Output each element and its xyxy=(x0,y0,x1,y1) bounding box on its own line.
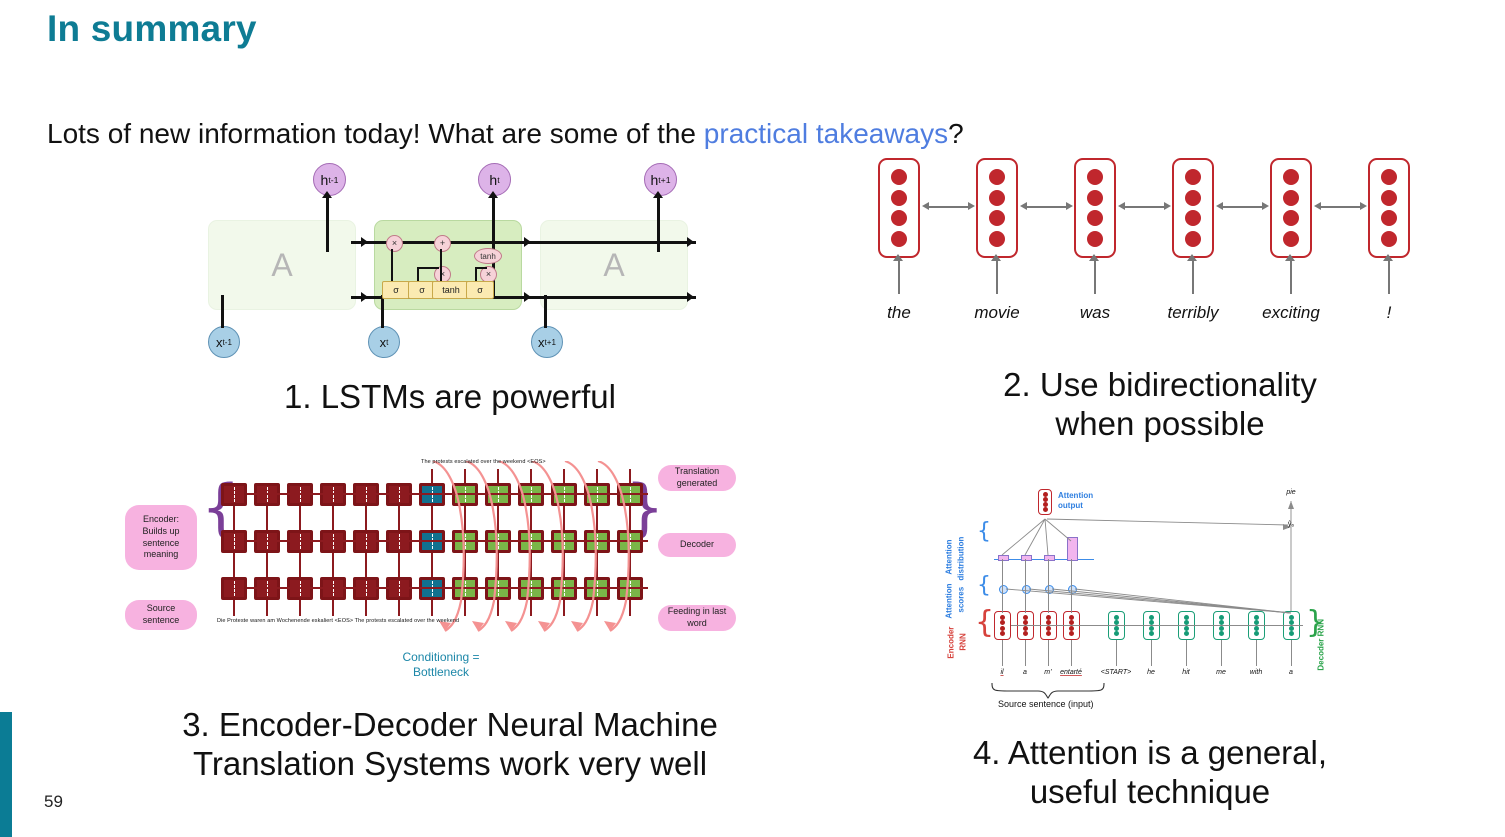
attention-bar-2 xyxy=(1044,555,1055,561)
attention-dec-dot xyxy=(1114,626,1119,631)
attention-dec-dot xyxy=(1289,615,1294,620)
lstm-track-arrow-2 xyxy=(361,292,368,302)
attention-output-line2: output xyxy=(1058,501,1093,511)
lstm-input-prev: xt-1 xyxy=(208,326,240,358)
nmt-vconn xyxy=(299,506,301,530)
bi-input-arrow-0 xyxy=(893,254,903,261)
attention-encoder-cell-0 xyxy=(994,611,1011,640)
subtitle-line: Lots of new information today! What are … xyxy=(47,118,964,150)
bi-node xyxy=(891,190,907,206)
lstm-x-wire-current xyxy=(381,295,384,328)
encoder-rnn-label: Encoder xyxy=(946,627,956,659)
attention-decoder-word-2: hit xyxy=(1166,669,1206,676)
attention-dec-dot xyxy=(1219,631,1224,636)
nmt-translation-line2: generated xyxy=(677,478,718,490)
nmt-vconn xyxy=(596,553,598,577)
attention-input-wire-1 xyxy=(1025,640,1026,666)
lstm-x-sub-2: t+1 xyxy=(545,338,556,347)
lstm-x-wire-prev xyxy=(221,295,224,328)
nmt-output-stub xyxy=(596,469,598,483)
attention-input-wire-9 xyxy=(1291,640,1292,666)
bi-input-arrow-3 xyxy=(1187,254,1197,261)
attention-dec-dot xyxy=(1149,631,1154,636)
bi-column-5: ! xyxy=(1368,158,1410,258)
attention-enc-dot xyxy=(1046,615,1051,620)
lstm-h-sub-2: t+1 xyxy=(658,175,670,185)
caption-three-line2: Translation Systems work very well xyxy=(130,745,770,784)
encoder-rnn-brace: { xyxy=(975,605,994,640)
caption-four-line1: 4. Attention is a general, xyxy=(890,734,1410,773)
bi-node xyxy=(891,231,907,247)
attention-input-wire-4 xyxy=(1116,640,1117,666)
lstm-wire-output xyxy=(475,267,477,281)
bi-link-head-r-4 xyxy=(1360,202,1367,210)
bi-node xyxy=(891,210,907,226)
bi-node xyxy=(1283,190,1299,206)
lstm-op-symbol-3: × xyxy=(486,270,491,279)
nmt-output-stub xyxy=(431,469,433,483)
lstm-h-arrow-current xyxy=(488,191,498,198)
bi-node xyxy=(1283,169,1299,185)
attention-dec-dot xyxy=(1289,631,1294,636)
attention-distribution-brace: { xyxy=(977,519,991,544)
bi-link-3 xyxy=(1220,206,1264,208)
attention-dec-dot xyxy=(1114,615,1119,620)
lstm-gate-candidate: tanh xyxy=(432,281,470,299)
lstm-h-sub-0: t-1 xyxy=(328,175,338,185)
attention-source-sentence-label: Source sentence (input) xyxy=(998,699,1094,709)
lstm-op-symbol-1: + xyxy=(440,239,445,248)
bi-node xyxy=(1283,210,1299,226)
nmt-input-stub xyxy=(596,600,598,616)
nmt-vconn xyxy=(266,553,268,577)
attention-decoder-word-4: with xyxy=(1236,669,1276,676)
nmt-output-stub xyxy=(497,469,499,483)
nmt-output-stub xyxy=(563,469,565,483)
attention-score-0 xyxy=(999,585,1008,594)
bi-link-head-r-0 xyxy=(968,202,975,210)
nmt-vconn xyxy=(530,553,532,577)
nmt-vconn xyxy=(233,553,235,577)
lstm-tanh-ellipse: tanh xyxy=(474,248,502,264)
bi-link-1 xyxy=(1024,206,1068,208)
attention-output-label: Attention output xyxy=(1058,491,1093,510)
nmt-encoder-line1: Encoder: xyxy=(143,514,179,526)
lstm-tanh-ellipse-label: tanh xyxy=(480,252,496,261)
attention-enc-dot xyxy=(1069,631,1074,636)
nmt-feeding-line2: word xyxy=(687,618,707,630)
lstm-x-wire-next xyxy=(544,295,547,328)
nmt-input-stub xyxy=(365,600,367,616)
slide-number: 59 xyxy=(44,792,63,812)
attention-dec-dot xyxy=(1254,615,1259,620)
nmt-source-line2: sentence xyxy=(143,615,180,627)
bi-input-wire-2 xyxy=(1094,258,1096,294)
subtitle-plain-text: Lots of new information today! What are … xyxy=(47,118,704,149)
bi-link-head-l-3 xyxy=(1216,202,1223,210)
nmt-input-stub xyxy=(332,600,334,616)
nmt-output-stub xyxy=(464,469,466,483)
nmt-bottleneck-line1: Conditioning = xyxy=(396,650,486,665)
attention-decoder-word-3: me xyxy=(1201,669,1241,676)
nmt-hconn xyxy=(247,540,648,542)
attention-enc-dot xyxy=(1046,631,1051,636)
attention-wire-score-1 xyxy=(1025,559,1026,613)
bi-column-2: was xyxy=(1074,158,1116,258)
nmt-encoder-line2: Builds up xyxy=(142,526,179,538)
caption-three: 3. Encoder-Decoder Neural Machine Transl… xyxy=(130,706,770,784)
nmt-input-stub xyxy=(497,600,499,616)
attention-yhat-label: ŷ₆ xyxy=(1266,521,1316,528)
lstm-cell-previous: A xyxy=(208,220,356,310)
nmt-label-encoder: Encoder: Builds up sentence meaning xyxy=(125,505,197,570)
nmt-vconn xyxy=(431,553,433,577)
attention-prediction-label: pie xyxy=(1266,489,1316,496)
attention-dec-dot xyxy=(1184,615,1189,620)
bi-link-4 xyxy=(1318,206,1362,208)
attention-enc-dot xyxy=(1046,626,1051,631)
bi-link-head-l-2 xyxy=(1118,202,1125,210)
attention-dec-dot xyxy=(1254,631,1259,636)
bi-input-arrow-5 xyxy=(1383,254,1393,261)
left-accent-bar xyxy=(0,712,12,837)
lstm-track-arrow-3 xyxy=(524,237,531,247)
attention-enc-dot xyxy=(1000,626,1005,631)
nmt-cell xyxy=(221,483,247,506)
nmt-hconn xyxy=(247,587,648,589)
attention-distribution-label2: distribution xyxy=(956,537,966,581)
bi-column-3: terribly xyxy=(1172,158,1214,258)
attention-input-wire-6 xyxy=(1186,640,1187,666)
bi-column-1: movie xyxy=(976,158,1018,258)
bi-input-wire-5 xyxy=(1388,258,1390,294)
attention-input-wire-2 xyxy=(1048,640,1049,666)
bi-input-arrow-1 xyxy=(991,254,1001,261)
attention-output-box xyxy=(1038,489,1052,515)
bi-stack-1 xyxy=(976,158,1018,258)
attention-input-wire-7 xyxy=(1221,640,1222,666)
encoder-rnn-label2: RNN xyxy=(958,633,968,650)
caption-two-line2: when possible xyxy=(900,405,1420,444)
attention-score-1 xyxy=(1022,585,1031,594)
nmt-label-translation-generated: Translation generated xyxy=(658,465,736,491)
nmt-output-word-row: The protests escalated over the weekend … xyxy=(421,459,546,465)
slide-root: In summary Lots of new information today… xyxy=(0,0,1505,837)
nmt-input-stub xyxy=(431,600,433,616)
nmt-vconn xyxy=(365,506,367,530)
lstm-track-arrow-1 xyxy=(361,237,368,247)
lstm-op-symbol-0: × xyxy=(392,239,397,248)
nmt-input-stub xyxy=(266,600,268,616)
bi-link-head-l-0 xyxy=(922,202,929,210)
lstm-wire-input-h xyxy=(417,267,439,269)
bi-node xyxy=(1087,210,1103,226)
nmt-cell xyxy=(221,530,247,553)
nmt-vconn xyxy=(398,506,400,530)
nmt-vconn xyxy=(431,506,433,530)
nmt-vconn xyxy=(629,506,631,530)
bi-node xyxy=(891,169,907,185)
attention-dec-dot xyxy=(1184,631,1189,636)
attention-distribution-line2: distribution xyxy=(956,537,966,581)
nmt-vconn xyxy=(563,506,565,530)
attention-distribution-line1: Attention xyxy=(944,539,954,574)
attention-enc-dot xyxy=(1069,626,1074,631)
attention-input-wire-5 xyxy=(1151,640,1152,666)
nmt-vconn xyxy=(497,506,499,530)
attention-scores-line2: scores xyxy=(956,587,966,613)
lstm-wire-output-h xyxy=(475,267,487,269)
bi-link-0 xyxy=(926,206,970,208)
attention-bar-3 xyxy=(1067,537,1078,561)
encoder-rnn-line2: RNN xyxy=(958,633,968,650)
nmt-vconn xyxy=(563,553,565,577)
bi-link-head-r-2 xyxy=(1164,202,1171,210)
lstm-cell-label-next: A xyxy=(603,247,624,284)
nmt-input-stub xyxy=(464,600,466,616)
nmt-vconn xyxy=(299,553,301,577)
bi-stack-5 xyxy=(1368,158,1410,258)
nmt-conditioning-bottleneck-label: Conditioning = Bottleneck xyxy=(396,650,486,680)
lstm-track-arrow-6 xyxy=(687,292,694,302)
lstm-h-sub-1: t xyxy=(497,175,499,185)
bi-link-head-r-1 xyxy=(1066,202,1073,210)
lstm-h-letter-1: h xyxy=(489,172,497,188)
lstm-op-add: + xyxy=(434,235,451,252)
attention-source-word-3: entarté xyxy=(1051,669,1091,676)
attention-decoder-word-1: he xyxy=(1131,669,1171,676)
bi-stack-0 xyxy=(878,158,920,258)
attention-dec-dot xyxy=(1149,615,1154,620)
lstm-h-arrow-prev xyxy=(322,191,332,198)
nmt-hconn xyxy=(247,493,648,495)
bi-node xyxy=(1087,231,1103,247)
bi-node xyxy=(1381,169,1397,185)
encoder-rnn-line1: Encoder xyxy=(946,627,956,659)
bi-link-head-r-3 xyxy=(1262,202,1269,210)
nmt-translation-line1: Translation xyxy=(675,466,719,478)
nmt-vconn xyxy=(266,506,268,530)
bi-link-head-l-1 xyxy=(1020,202,1027,210)
nmt-output-stub xyxy=(629,469,631,483)
nmt-vconn xyxy=(332,506,334,530)
attention-enc-dot xyxy=(1023,631,1028,636)
bi-input-wire-4 xyxy=(1290,258,1292,294)
lstm-track-arrow-5 xyxy=(687,237,694,247)
attention-wire-score-3 xyxy=(1071,559,1072,613)
bi-node xyxy=(1381,190,1397,206)
nmt-diagram: Encoder: Builds up sentence meaning Sour… xyxy=(125,455,765,640)
lstm-h-letter-0: h xyxy=(321,172,329,188)
attention-distribution-label: Attention xyxy=(944,539,954,574)
lstm-wire-forget xyxy=(391,249,393,281)
bi-node xyxy=(1185,231,1201,247)
subtitle-tail-text: ? xyxy=(948,118,964,149)
attention-scores-label2: scores xyxy=(956,587,966,613)
attention-input-wire-0 xyxy=(1002,640,1003,666)
nmt-input-stub xyxy=(563,600,565,616)
nmt-vconn xyxy=(365,553,367,577)
attention-enc-dot xyxy=(1000,620,1005,625)
lstm-h-letter-2: h xyxy=(650,172,658,188)
lstm-diagram: A A ht-1 ht ht+1 xt-1 xt xt+1 xyxy=(196,163,696,359)
nmt-vconn xyxy=(398,553,400,577)
attention-input-wire-8 xyxy=(1256,640,1257,666)
attention-diagram: Attention output Attention distribution … xyxy=(950,483,1350,718)
nmt-label-source-sentence: Source sentence xyxy=(125,600,197,630)
attention-dec-dot xyxy=(1289,626,1294,631)
attention-score-2 xyxy=(1045,585,1054,594)
bi-stack-4 xyxy=(1270,158,1312,258)
nmt-label-feeding-last-word: Feeding in last word xyxy=(658,605,736,631)
bi-node xyxy=(1381,210,1397,226)
bi-input-wire-3 xyxy=(1192,258,1194,294)
attention-dec-dot xyxy=(1254,626,1259,631)
nmt-feeding-line1: Feeding in last xyxy=(668,606,727,618)
bi-column-0: the xyxy=(878,158,920,258)
attention-rnn-chain xyxy=(1011,625,1303,626)
nmt-vconn xyxy=(629,553,631,577)
caption-four: 4. Attention is a general, useful techni… xyxy=(890,734,1410,812)
nmt-vconn xyxy=(464,506,466,530)
attention-enc-dot xyxy=(1000,615,1005,620)
lstm-gate-output: σ xyxy=(466,281,494,299)
nmt-input-stub xyxy=(233,600,235,616)
bi-node xyxy=(1087,190,1103,206)
lstm-wire-candidate xyxy=(440,249,442,281)
lstm-gate-label-3: σ xyxy=(477,285,483,295)
lstm-h-wire-prev xyxy=(326,194,329,252)
decoder-rnn-brace: } xyxy=(1306,605,1325,640)
nmt-source-line1: Source xyxy=(147,603,176,615)
bi-node xyxy=(989,210,1005,226)
subtitle-highlight-text: practical takeaways xyxy=(704,118,948,149)
nmt-label-decoder: Decoder xyxy=(658,533,736,557)
caption-two: 2. Use bidirectionality when possible xyxy=(900,366,1420,444)
lstm-track-arrow-4 xyxy=(524,292,531,302)
bidirectional-rnn-diagram: the movie was xyxy=(860,158,1420,343)
attention-scores-label: Attention xyxy=(944,583,954,618)
bi-input-arrow-4 xyxy=(1285,254,1295,261)
attention-input-wire-3 xyxy=(1071,640,1072,666)
bi-word-5: ! xyxy=(1329,303,1449,323)
bi-input-arrow-2 xyxy=(1089,254,1099,261)
attention-dec-dot xyxy=(1149,626,1154,631)
nmt-bottleneck-line2: Bottleneck xyxy=(396,665,486,680)
bi-link-2 xyxy=(1122,206,1166,208)
nmt-encoder-line3: sentence xyxy=(143,538,180,550)
nmt-output-stub xyxy=(530,469,532,483)
bi-input-wire-0 xyxy=(898,258,900,294)
caption-four-line2: useful technique xyxy=(890,773,1410,812)
attention-source-brace xyxy=(990,681,1110,699)
bi-node xyxy=(1283,231,1299,247)
nmt-vconn xyxy=(233,506,235,530)
attention-wire-score-0 xyxy=(1002,559,1003,613)
bi-node xyxy=(1185,190,1201,206)
lstm-op-forget-multiply: × xyxy=(386,235,403,252)
attention-enc-dot xyxy=(1069,615,1074,620)
lstm-cell-label-prev: A xyxy=(271,247,292,284)
bi-node xyxy=(989,231,1005,247)
lstm-gate-label-2: tanh xyxy=(442,285,460,295)
attention-dec-dot xyxy=(1114,631,1119,636)
lstm-h-arrow-next xyxy=(653,191,663,198)
attention-bar-1 xyxy=(1021,555,1032,561)
nmt-input-stub xyxy=(398,600,400,616)
lstm-wire-input xyxy=(417,267,419,281)
attention-dec-dot xyxy=(1219,615,1224,620)
nmt-input-stub xyxy=(530,600,532,616)
attention-dec-dot xyxy=(1219,626,1224,631)
nmt-cell xyxy=(221,577,247,600)
bi-node xyxy=(1087,169,1103,185)
bi-node xyxy=(1185,169,1201,185)
attention-score-3 xyxy=(1068,585,1077,594)
nmt-vconn xyxy=(596,506,598,530)
nmt-input-stub xyxy=(299,600,301,616)
attention-enc-dot xyxy=(1023,626,1028,631)
lstm-gate-label-0: σ xyxy=(393,285,399,295)
page-title: In summary xyxy=(47,8,257,50)
lstm-x-sub-1: t xyxy=(386,338,388,347)
attention-enc-dot xyxy=(1023,615,1028,620)
bi-column-4: exciting xyxy=(1270,158,1312,258)
nmt-vconn xyxy=(530,506,532,530)
nmt-vconn xyxy=(464,553,466,577)
nmt-vconn xyxy=(497,553,499,577)
bi-node xyxy=(1185,210,1201,226)
bi-node xyxy=(989,169,1005,185)
caption-three-line1: 3. Encoder-Decoder Neural Machine xyxy=(130,706,770,745)
bi-input-wire-1 xyxy=(996,258,998,294)
bi-node xyxy=(989,190,1005,206)
bi-stack-3 xyxy=(1172,158,1214,258)
attention-enc-dot xyxy=(1000,631,1005,636)
attention-decoder-word-5: a xyxy=(1271,669,1311,676)
nmt-decoder-text: Decoder xyxy=(680,539,714,551)
nmt-input-word-row: Die Proteste waren am Wochenende eskalie… xyxy=(217,618,459,624)
nmt-vconn xyxy=(332,553,334,577)
attention-wire-score-2 xyxy=(1048,559,1049,613)
bi-node xyxy=(1381,231,1397,247)
caption-one: 1. LSTMs are powerful xyxy=(160,378,740,417)
caption-two-line1: 2. Use bidirectionality xyxy=(900,366,1420,405)
nmt-input-stub xyxy=(629,600,631,616)
nmt-encoder-line4: meaning xyxy=(144,549,179,561)
attention-scores-line1: Attention xyxy=(944,583,954,618)
attention-output-line1: Attention xyxy=(1058,491,1093,501)
attention-dec-dot xyxy=(1184,626,1189,631)
attention-output-dot xyxy=(1043,507,1048,512)
lstm-input-current: xt xyxy=(368,326,400,358)
lstm-gate-forget: σ xyxy=(382,281,410,299)
attention-scores-brace: { xyxy=(977,573,991,598)
attention-bar-0 xyxy=(998,555,1009,561)
lstm-input-next: xt+1 xyxy=(531,326,563,358)
lstm-gate-label-1: σ xyxy=(419,285,425,295)
bi-stack-2 xyxy=(1074,158,1116,258)
bi-link-head-l-4 xyxy=(1314,202,1321,210)
lstm-x-sub-0: t-1 xyxy=(223,338,232,347)
